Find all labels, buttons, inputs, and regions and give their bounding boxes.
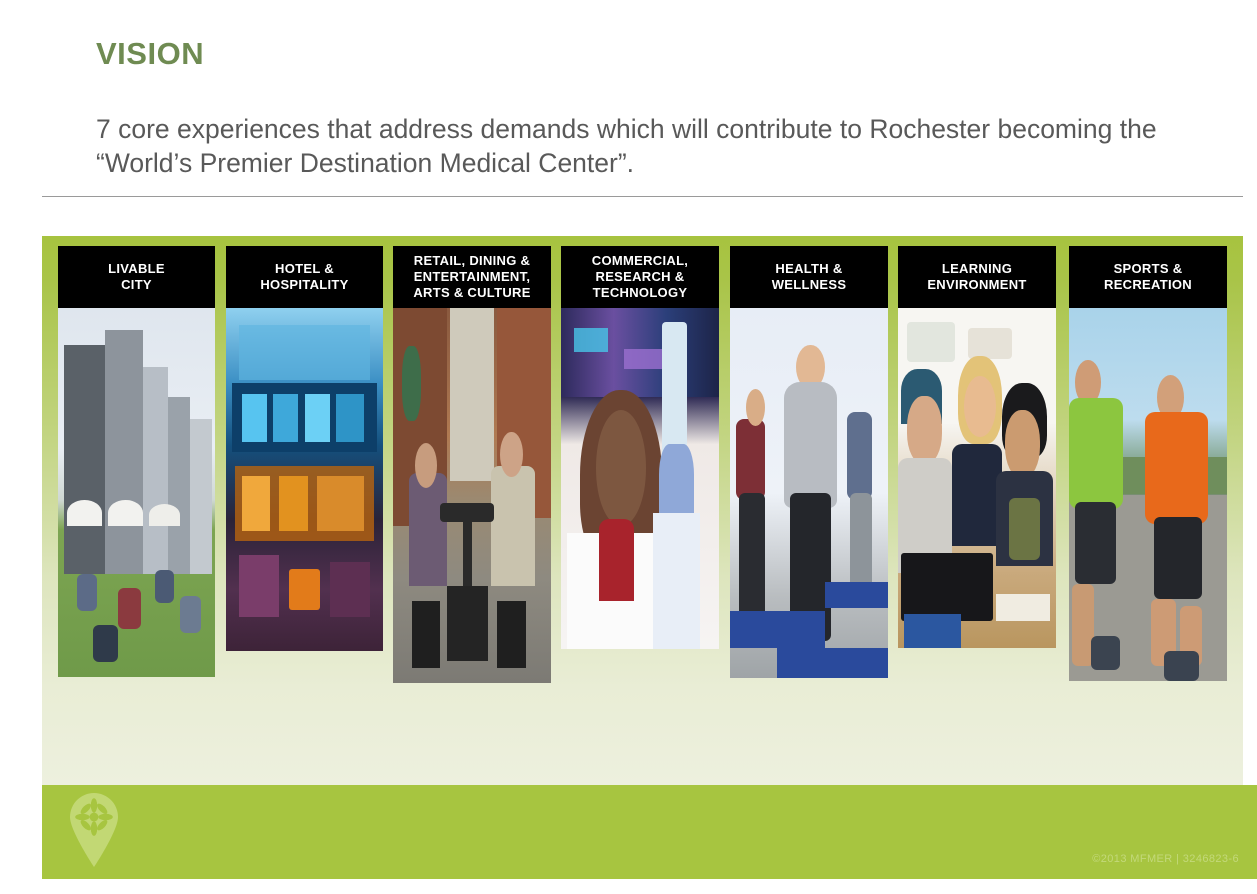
column-image-health-wellness [730, 308, 888, 678]
column-header-line: RESEARCH & [596, 269, 685, 284]
column-header-line: SPORTS & [1114, 261, 1183, 276]
column-header-line: HOSPITALITY [260, 277, 348, 292]
column-image-sports-recreation [1069, 308, 1227, 681]
column-header-line: COMMERCIAL, [592, 253, 688, 268]
column-header-line: LEARNING [942, 261, 1012, 276]
column-header-retail-dining: RETAIL, DINING & ENTERTAINMENT, ARTS & C… [393, 246, 551, 308]
column-header-livable-city: LIVABLE CITY [58, 246, 215, 308]
column-header-line: HOTEL & [275, 261, 334, 276]
title-divider [42, 196, 1243, 197]
experience-column-learning-environment[interactable]: LEARNING ENVIRONMENT [898, 246, 1056, 648]
slide-canvas: VISION 7 core experiences that address d… [0, 0, 1257, 894]
experience-column-health-wellness[interactable]: HEALTH & WELLNESS [730, 246, 888, 678]
experience-column-livable-city[interactable]: LIVABLE CITY [58, 246, 215, 677]
column-header-line: WELLNESS [772, 277, 847, 292]
column-header-health-wellness: HEALTH & WELLNESS [730, 246, 888, 308]
column-header-sports-recreation: SPORTS & RECREATION [1069, 246, 1227, 308]
column-header-hotel-hospitality: HOTEL & HOSPITALITY [226, 246, 383, 308]
dmc-pin-logo [66, 791, 122, 867]
column-header-line: TECHNOLOGY [593, 285, 688, 300]
experience-column-retail-dining[interactable]: RETAIL, DINING & ENTERTAINMENT, ARTS & C… [393, 246, 551, 683]
experience-column-sports-recreation[interactable]: SPORTS & RECREATION [1069, 246, 1227, 681]
column-header-line: ARTS & CULTURE [413, 285, 530, 300]
column-header-line: RETAIL, DINING & [414, 253, 531, 268]
copyright-credit: ©2013 MFMER | 3246823-6 [1092, 853, 1239, 865]
footer-band [42, 785, 1257, 879]
column-header-line: HEALTH & [775, 261, 842, 276]
slide-subtitle: 7 core experiences that address demands … [96, 112, 1216, 180]
column-header-line: LIVABLE [108, 261, 165, 276]
experience-column-hotel-hospitality[interactable]: HOTEL & HOSPITALITY [226, 246, 383, 651]
column-image-retail-dining [393, 308, 551, 683]
column-header-line: ENVIRONMENT [927, 277, 1026, 292]
experience-columns: LIVABLE CITY [42, 236, 1243, 785]
column-image-hotel-hospitality [226, 308, 383, 651]
column-header-line: CITY [121, 277, 152, 292]
column-header-line: ENTERTAINMENT, [414, 269, 531, 284]
page-title: VISION [96, 36, 204, 72]
column-image-commercial-research [561, 308, 719, 649]
column-header-line: RECREATION [1104, 277, 1192, 292]
column-header-commercial-research: COMMERCIAL, RESEARCH & TECHNOLOGY [561, 246, 719, 308]
column-image-livable-city [58, 308, 215, 677]
column-header-learning-environment: LEARNING ENVIRONMENT [898, 246, 1056, 308]
experience-column-commercial-research[interactable]: COMMERCIAL, RESEARCH & TECHNOLOGY [561, 246, 719, 649]
column-image-learning-environment [898, 308, 1056, 648]
